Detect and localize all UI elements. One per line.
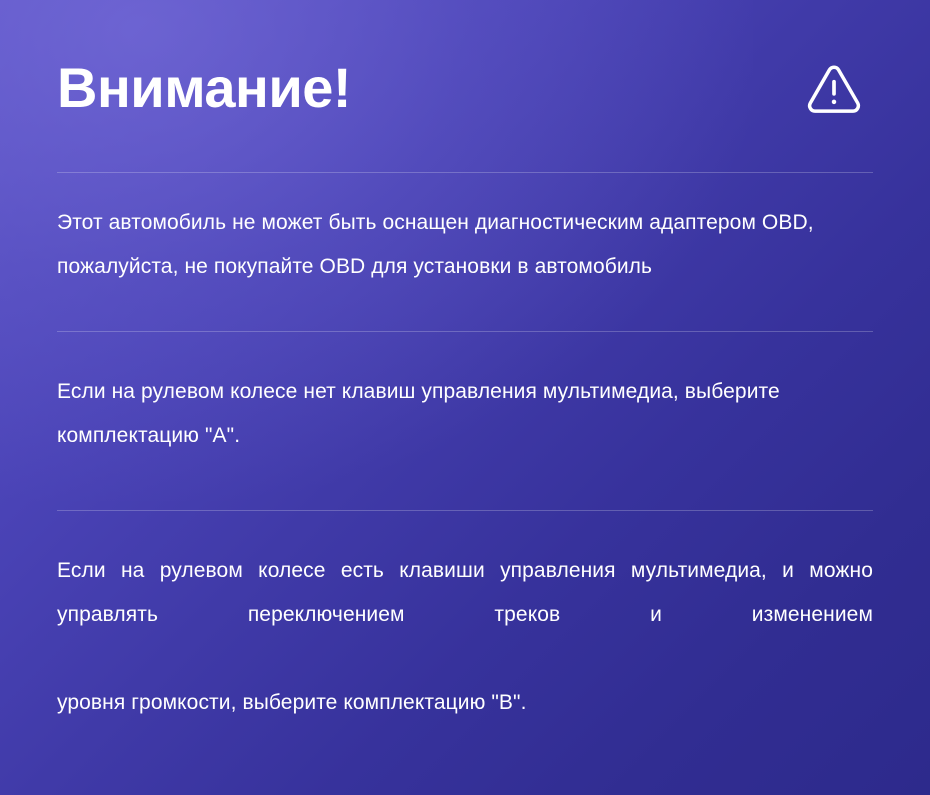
section-obd-warning: Этот автомобиль не может быть оснащен ди… [57,173,873,331]
banner-content: Внимание! Этот автомобиль не может быть … [0,0,930,725]
warning-triangle-icon [803,58,865,120]
section-obd-warning-text: Этот автомобиль не может быть оснащен ди… [57,201,873,289]
section-variant-a: Если на рулевом колесе нет клавиш управл… [57,332,873,510]
section-variant-b-text-last: уровня громкости, выберите комплектацию … [57,681,873,725]
section-variant-b: Если на рулевом колесе есть клавиши упра… [57,511,873,725]
banner-header: Внимание! [57,0,873,172]
section-variant-a-text: Если на рулевом колесе нет клавиш управл… [57,370,873,458]
warning-banner: Внимание! Этот автомобиль не может быть … [0,0,930,795]
section-variant-b-text: Если на рулевом колесе есть клавиши упра… [57,549,873,681]
page-title: Внимание! [57,60,351,116]
